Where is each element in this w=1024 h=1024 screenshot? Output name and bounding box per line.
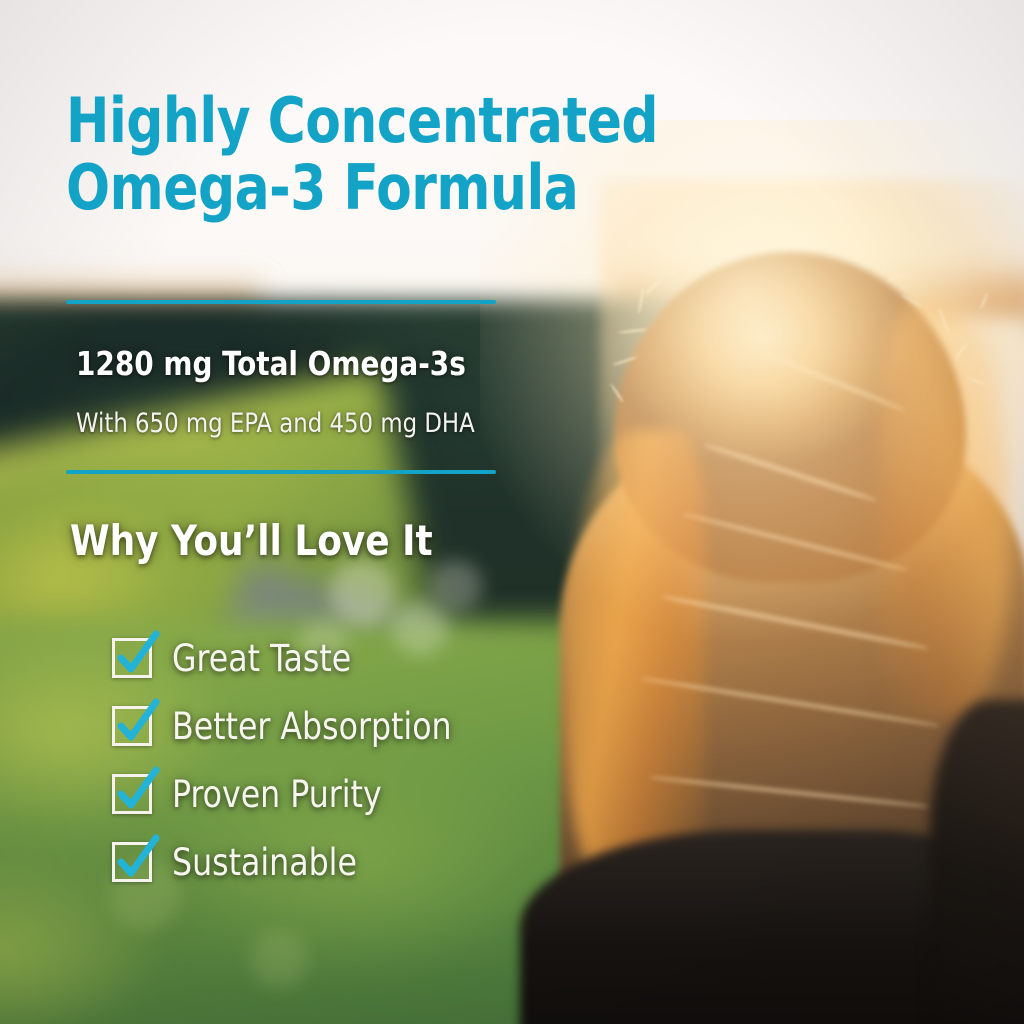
list-item: Proven Purity: [112, 760, 672, 828]
benefits-heading: Why You’ll Love It: [70, 518, 433, 564]
list-item-label: Great Taste: [172, 640, 351, 677]
overlay-content: Highly Concentrated Omega-3 Formula 1280…: [0, 0, 1024, 1024]
checkbox-checked-icon: [112, 842, 152, 882]
divider-top: [66, 300, 496, 304]
list-item-label: Better Absorption: [172, 708, 452, 745]
checkbox-checked-icon: [112, 706, 152, 746]
checkbox-checked-icon: [112, 638, 152, 678]
headline-line-2: Omega-3 Formula: [66, 155, 643, 222]
total-omega3-value: 1280 mg Total Omega-3s: [76, 346, 466, 382]
list-item: Sustainable: [112, 828, 672, 896]
page-title: Highly Concentrated Omega-3 Formula: [66, 88, 643, 222]
list-item-label: Proven Purity: [172, 776, 382, 813]
list-item: Better Absorption: [112, 692, 672, 760]
benefits-checklist: Great Taste Better Absorption Proven Pur…: [112, 624, 672, 896]
checkbox-checked-icon: [112, 774, 152, 814]
list-item-label: Sustainable: [172, 844, 357, 881]
epa-dha-breakdown: With 650 mg EPA and 450 mg DHA: [76, 409, 475, 439]
product-infographic: Highly Concentrated Omega-3 Formula 1280…: [0, 0, 1024, 1024]
headline-line-1: Highly Concentrated: [66, 88, 643, 155]
list-item: Great Taste: [112, 624, 672, 692]
divider-bottom: [66, 470, 496, 474]
